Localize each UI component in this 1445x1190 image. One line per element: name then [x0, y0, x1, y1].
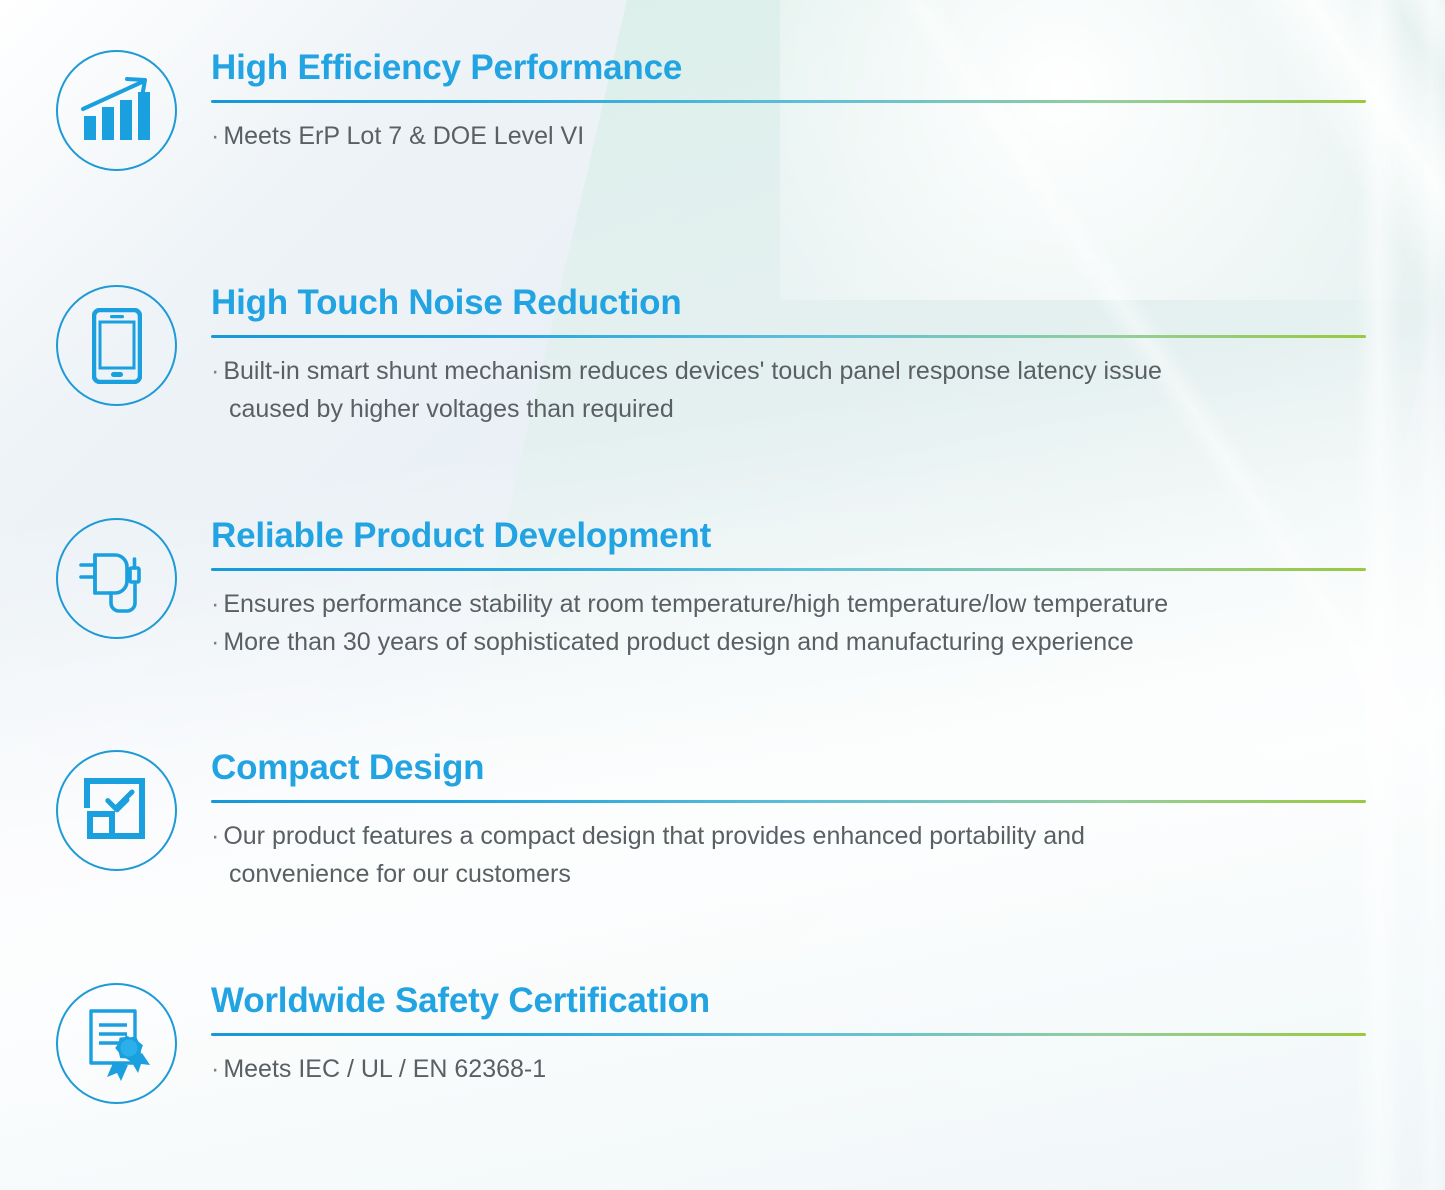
feature-bullet-line: convenience for our customers: [211, 855, 1365, 893]
feature-divider: [211, 568, 1366, 571]
feature-title: High Touch Noise Reduction: [211, 285, 1365, 322]
feature-body: Worldwide Safety Certification ·Meets IE…: [211, 983, 1365, 1088]
feature-bullet-line: ·Meets IEC / UL / EN 62368-1: [211, 1050, 1365, 1088]
compact-resize-icon: [84, 778, 150, 844]
feature-icon-circle: [56, 285, 177, 406]
feature-bullet-text: Meets IEC / UL / EN 62368-1: [223, 1055, 546, 1083]
feature-title: High Efficiency Performance: [211, 50, 1365, 87]
feature-body: High Touch Noise Reduction ·Built-in sma…: [211, 285, 1365, 428]
certificate-seal-icon: [83, 1007, 151, 1081]
feature-divider: [211, 1033, 1366, 1036]
feature-bullet-text: Our product features a compact design th…: [223, 822, 1085, 850]
feature-divider: [211, 800, 1366, 803]
feature-divider: [211, 100, 1366, 103]
feature-bullet-text: convenience for our customers: [229, 860, 571, 888]
feature-bullet-line: ·Ensures performance stability at room t…: [211, 585, 1365, 623]
feature-bullet-text: Built-in smart shunt mechanism reduces d…: [223, 357, 1162, 385]
feature-bullet-line: ·Built-in smart shunt mechanism reduces …: [211, 352, 1365, 390]
feature-bullet-text: caused by higher voltages than required: [229, 395, 674, 423]
bullet-marker: ·: [211, 122, 219, 150]
feature-bullet-line: caused by higher voltages than required: [211, 390, 1365, 428]
feature-highlights-page: High Efficiency Performance ·Meets ErP L…: [0, 0, 1445, 1190]
feature-icon-circle: [56, 50, 177, 171]
bullet-marker: ·: [211, 590, 219, 618]
feature-bullet-list: ·Meets ErP Lot 7 & DOE Level VI: [211, 117, 1365, 155]
bullet-marker: ·: [211, 1055, 219, 1083]
feature-bullet-list: ·Ensures performance stability at room t…: [211, 585, 1365, 661]
feature-bullet-line: ·Meets ErP Lot 7 & DOE Level VI: [211, 117, 1365, 155]
feature-list: High Efficiency Performance ·Meets ErP L…: [0, 0, 1445, 1190]
feature-bullet-line: ·Our product features a compact design t…: [211, 817, 1365, 855]
feature-icon-circle: [56, 750, 177, 871]
feature-bullet-text: More than 30 years of sophisticated prod…: [223, 628, 1133, 656]
feature-title: Compact Design: [211, 750, 1365, 787]
feature-divider: [211, 335, 1366, 338]
feature-body: High Efficiency Performance ·Meets ErP L…: [211, 50, 1365, 155]
feature-bullet-list: ·Built-in smart shunt mechanism reduces …: [211, 352, 1365, 428]
smartphone-icon: [92, 308, 142, 384]
power-adapter-icon: [77, 543, 157, 615]
feature-bullet-line: ·More than 30 years of sophisticated pro…: [211, 623, 1365, 661]
feature-body: Reliable Product Development ·Ensures pe…: [211, 518, 1365, 661]
feature-bullet-text: Meets ErP Lot 7 & DOE Level VI: [223, 122, 584, 150]
feature-title: Worldwide Safety Certification: [211, 983, 1365, 1020]
bullet-marker: ·: [211, 357, 219, 385]
bullet-marker: ·: [211, 822, 219, 850]
bullet-marker: ·: [211, 628, 219, 656]
bar-chart-growth-icon: [80, 76, 154, 146]
feature-bullet-text: Ensures performance stability at room te…: [223, 590, 1168, 618]
feature-icon-circle: [56, 518, 177, 639]
feature-icon-circle: [56, 983, 177, 1104]
feature-body: Compact Design ·Our product features a c…: [211, 750, 1365, 893]
feature-bullet-list: ·Our product features a compact design t…: [211, 817, 1365, 893]
feature-title: Reliable Product Development: [211, 518, 1365, 555]
feature-bullet-list: ·Meets IEC / UL / EN 62368-1: [211, 1050, 1365, 1088]
